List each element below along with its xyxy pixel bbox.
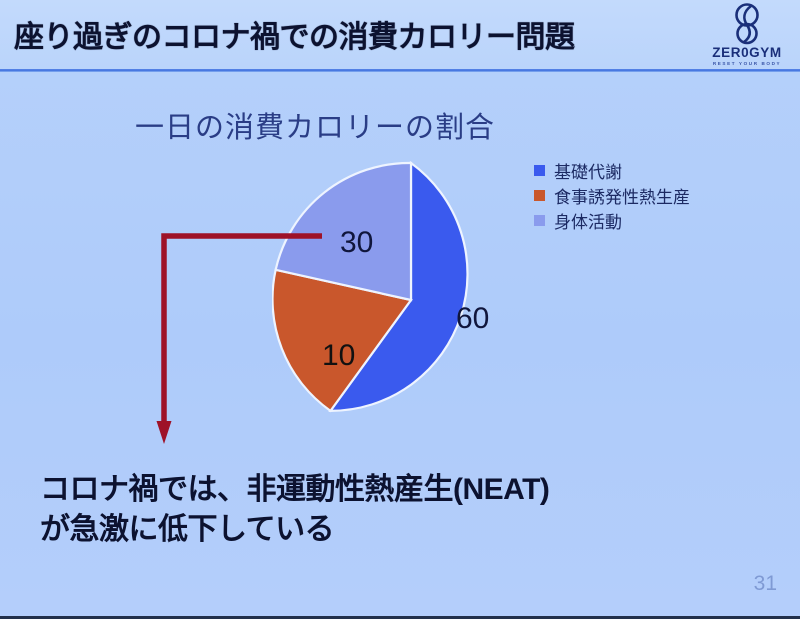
legend-swatch-icon xyxy=(534,215,545,226)
statement-line-2: が急激に低下している xyxy=(40,510,549,550)
header-divider xyxy=(0,69,800,72)
legend-item-diet-induced-thermogenesis[interactable]: 食事誘発性熱生産 xyxy=(534,183,784,208)
pie-value-label-physical-activity: 30 xyxy=(340,228,373,258)
legend-item-physical-activity[interactable]: 身体活動 xyxy=(534,208,784,233)
legend-label: 基礎代謝 xyxy=(554,158,622,183)
callout-arrow-icon xyxy=(150,225,340,455)
logo-tagline: RESET YOUR BODY xyxy=(710,62,784,67)
legend-label: 食事誘発性熱生産 xyxy=(554,183,690,208)
brand-logo: ZER0GYM RESET YOUR BODY xyxy=(710,3,784,67)
legend-label: 身体活動 xyxy=(554,208,622,233)
statement-line-1: コロナ禍では、非運動性熱産生(NEAT) xyxy=(40,470,549,510)
chart-title: 一日の消費カロリーの割合 xyxy=(0,104,800,146)
legend-item-basal-metabolism[interactable]: 基礎代謝 xyxy=(534,158,784,183)
pie-value-label-basal-metabolism: 60 xyxy=(456,304,489,334)
statement-text: コロナ禍では、非運動性熱産生(NEAT) が急激に低下している xyxy=(40,470,549,550)
legend-swatch-icon xyxy=(534,190,545,201)
page-number: 31 xyxy=(754,573,777,594)
legend-swatch-icon xyxy=(534,165,545,176)
slide: 座り過ぎのコロナ禍での消費カロリー問題 ZER0GYM RESET YOUR B… xyxy=(0,0,800,619)
chart-legend: 基礎代謝 食事誘発性熱生産 身体活動 xyxy=(534,158,784,233)
zerogym-figure-icon xyxy=(732,3,762,45)
page-title: 座り過ぎのコロナ禍での消費カロリー問題 xyxy=(14,12,575,56)
callout-arrow xyxy=(150,225,340,455)
logo-wordmark: ZER0GYM xyxy=(710,46,784,60)
